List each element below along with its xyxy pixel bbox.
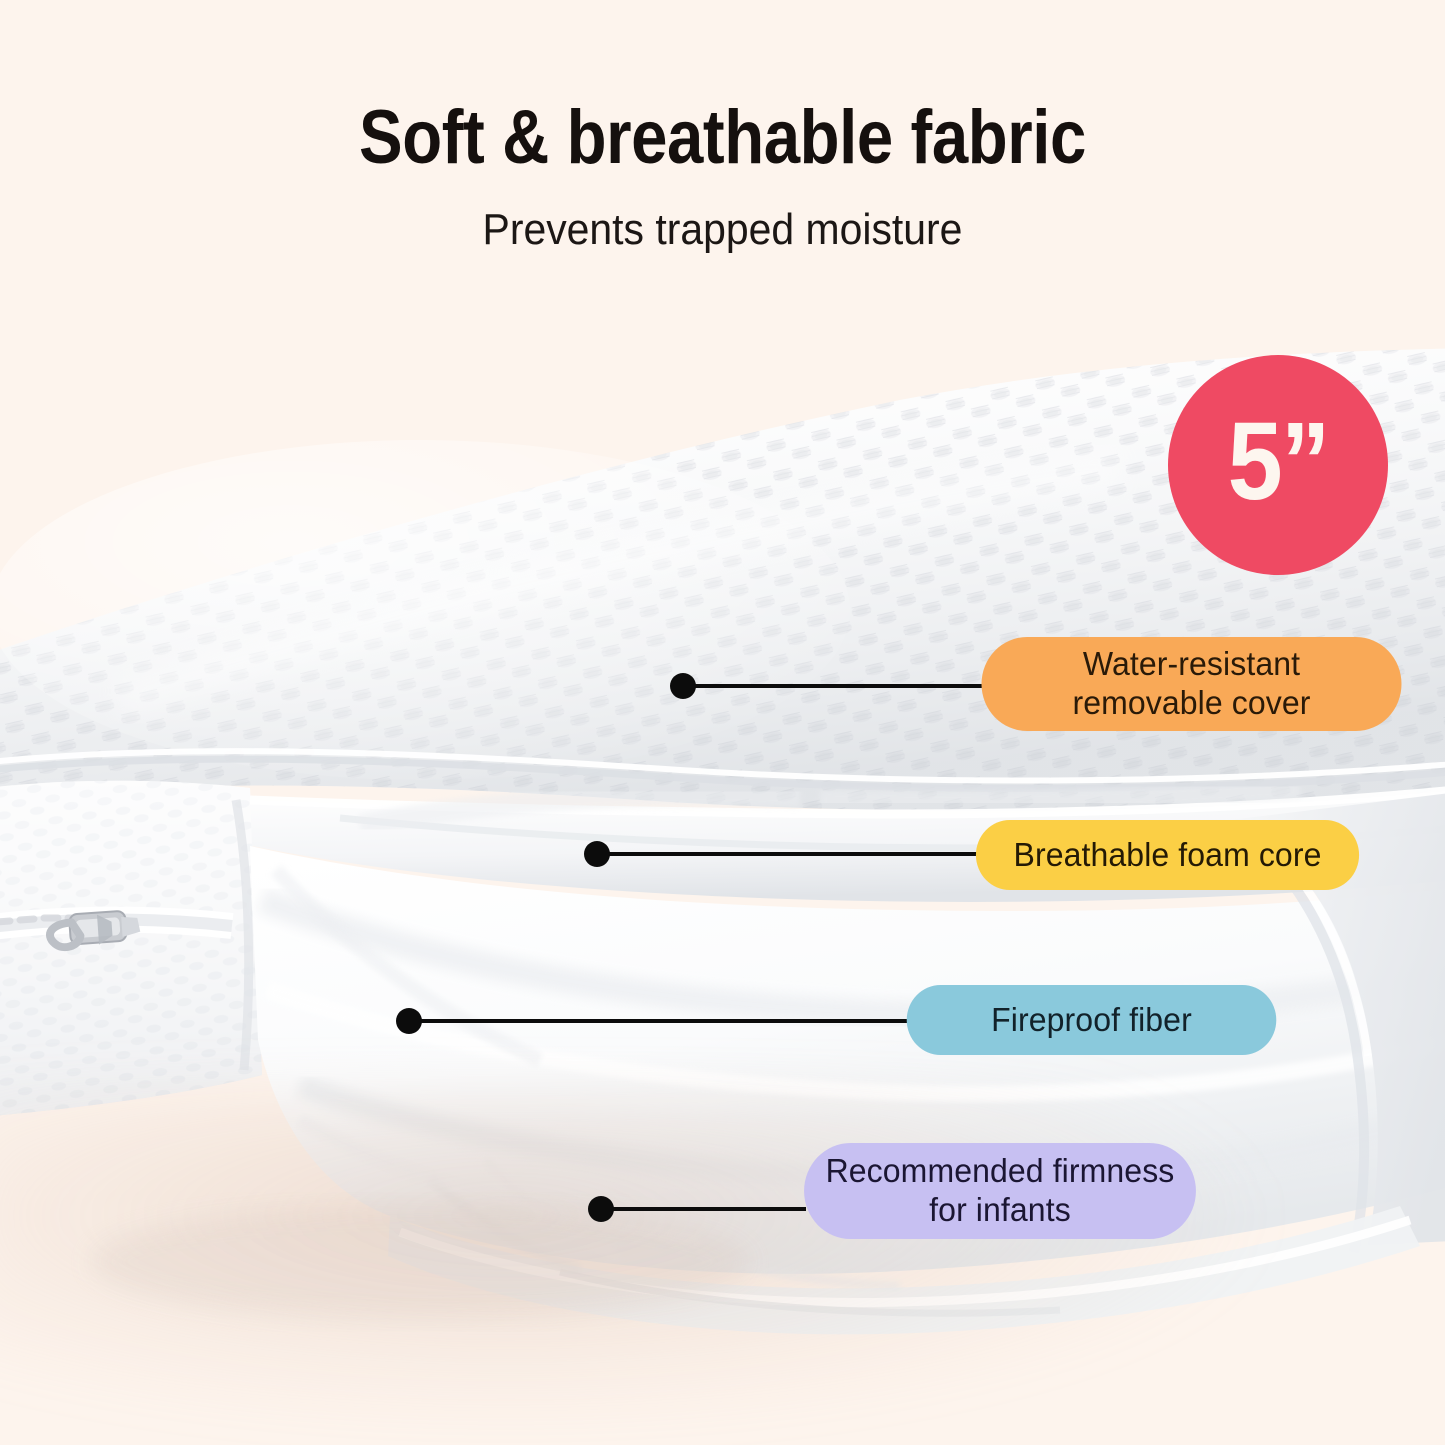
callout-label-recommended-firmness-for-infants: Recommended firmness for infants xyxy=(826,1152,1175,1230)
callout-recommended-firmness-for-infants[interactable]: Recommended firmness for infants xyxy=(804,1143,1196,1239)
callout-water-resistant-removable-cover[interactable]: Water-resistant removable cover xyxy=(981,637,1401,731)
page-subtitle: Prevents trapped moisture xyxy=(51,206,1395,254)
callout-label-breathable-foam-core: Breathable foam core xyxy=(1013,836,1321,875)
callout-label-fireproof-fiber: Fireproof fiber xyxy=(991,1001,1192,1040)
thickness-badge: 5” xyxy=(1168,355,1388,575)
callout-leader-breathable-foam-core xyxy=(606,852,978,856)
page-title: Soft & breathable fabric xyxy=(101,100,1344,176)
thickness-badge-label: 5” xyxy=(1228,407,1329,523)
callout-label-water-resistant-removable-cover: Water-resistant removable cover xyxy=(1072,645,1310,723)
floor-shadow xyxy=(0,1090,1260,1420)
callout-fireproof-fiber[interactable]: Fireproof fiber xyxy=(907,985,1277,1055)
callout-breathable-foam-core[interactable]: Breathable foam core xyxy=(976,820,1359,890)
infographic-canvas: Soft & breathable fabric Prevents trappe… xyxy=(0,0,1445,1445)
callout-leader-water-resistant-removable-cover xyxy=(692,684,984,688)
callout-leader-recommended-firmness-for-infants xyxy=(610,1207,806,1211)
callout-leader-fireproof-fiber xyxy=(418,1019,908,1023)
